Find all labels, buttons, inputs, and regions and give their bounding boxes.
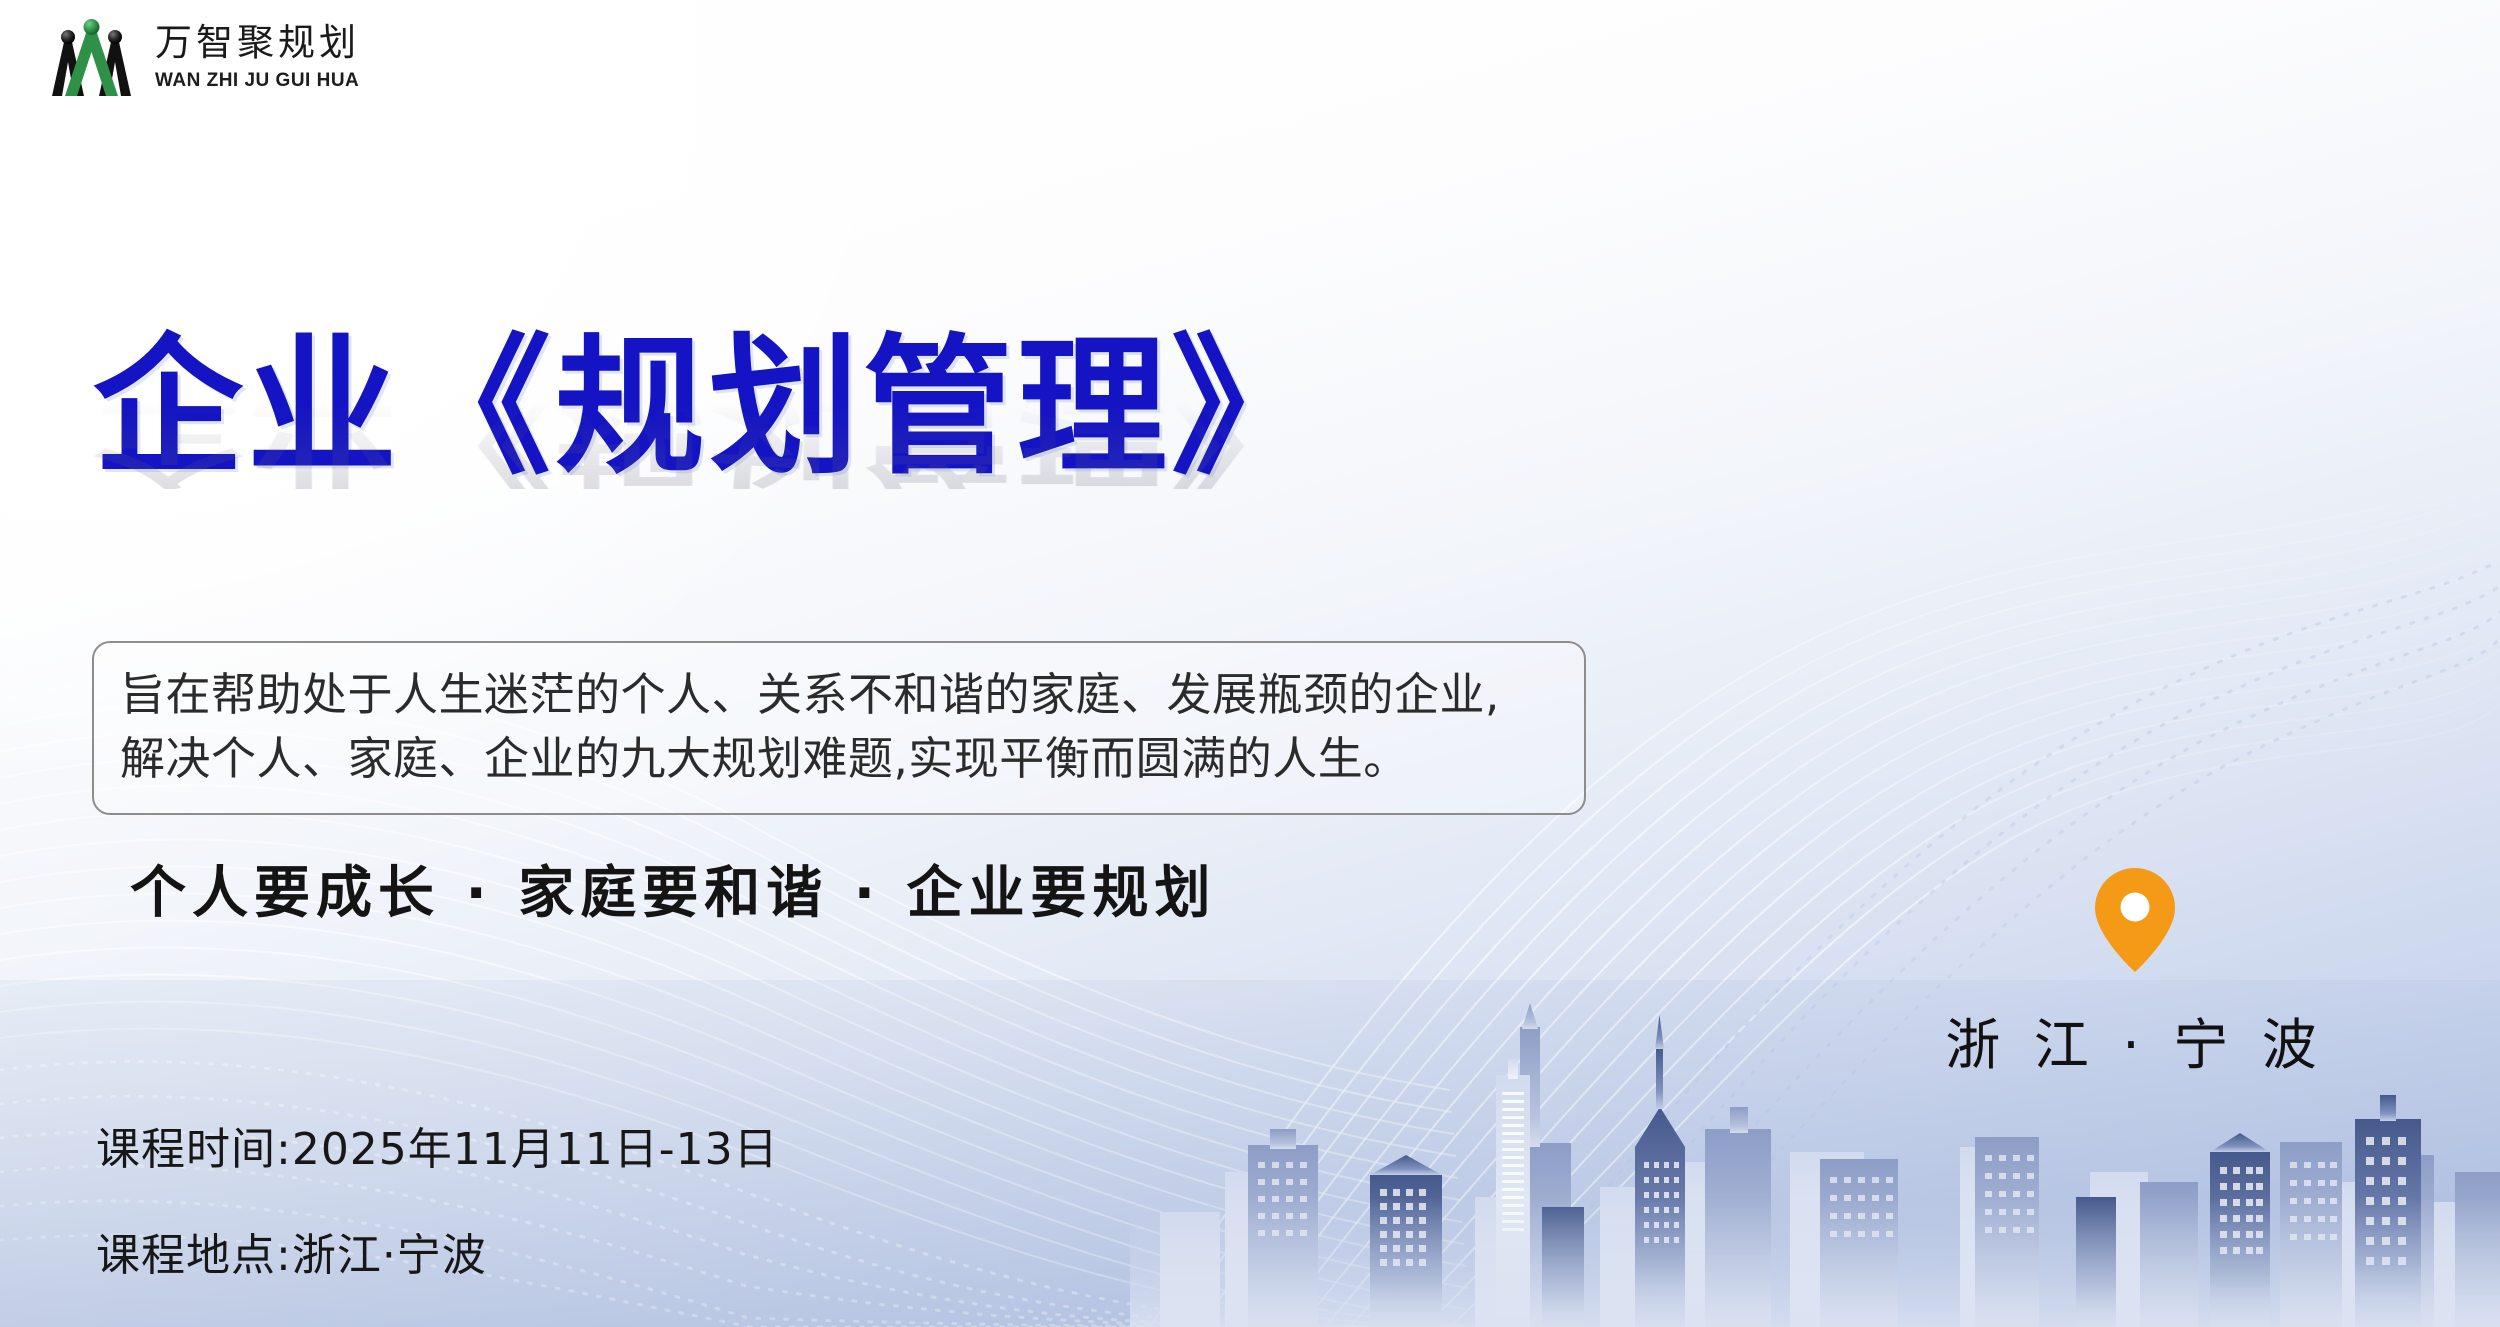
course-place: 课程地点:浙江·宁波 bbox=[96, 1219, 779, 1283]
course-info: 课程时间:2025年11月11日-13日 课程地点:浙江·宁波 bbox=[96, 1113, 779, 1283]
description-box: 旨在帮助处于人生迷茫的个人、关系不和谐的家庭、发展瓶颈的企业, 解决个人、家庭、… bbox=[92, 641, 1586, 815]
brand-name-en: WAN ZHI JU GUI HUA bbox=[155, 71, 360, 90]
map-pin-icon bbox=[2090, 866, 2180, 974]
brand-wordmark: 万智聚规划 WAN ZHI JU GUI HUA bbox=[155, 25, 360, 90]
location-badge: 浙 江 · 宁 波 bbox=[1950, 866, 2320, 1080]
title-text: 企业《规划管理》 bbox=[93, 333, 1653, 483]
description-line-1: 旨在帮助处于人生迷茫的个人、关系不和谐的家庭、发展瓶颈的企业, bbox=[120, 663, 1558, 727]
page-title: 企业《规划管理》 企业《规划管理》 bbox=[93, 333, 1653, 673]
course-time: 课程时间:2025年11月11日-13日 bbox=[96, 1113, 779, 1177]
brand-name-cn: 万智聚规划 bbox=[155, 25, 360, 62]
location-label: 浙 江 · 宁 波 bbox=[1945, 1000, 2324, 1080]
three-people-logo-icon bbox=[44, 18, 139, 96]
poster-canvas: 万智聚规划 WAN ZHI JU GUI HUA 企业《规划管理》 企业《规划管… bbox=[0, 0, 2500, 1327]
description-line-2: 解决个人、家庭、企业的九大规划难题,实现平衡而圆满的人生。 bbox=[120, 727, 1558, 791]
tagline: 个人要成长 · 家庭要和谐 · 企业要规划 bbox=[130, 848, 1217, 929]
brand-logo: 万智聚规划 WAN ZHI JU GUI HUA bbox=[44, 18, 360, 96]
